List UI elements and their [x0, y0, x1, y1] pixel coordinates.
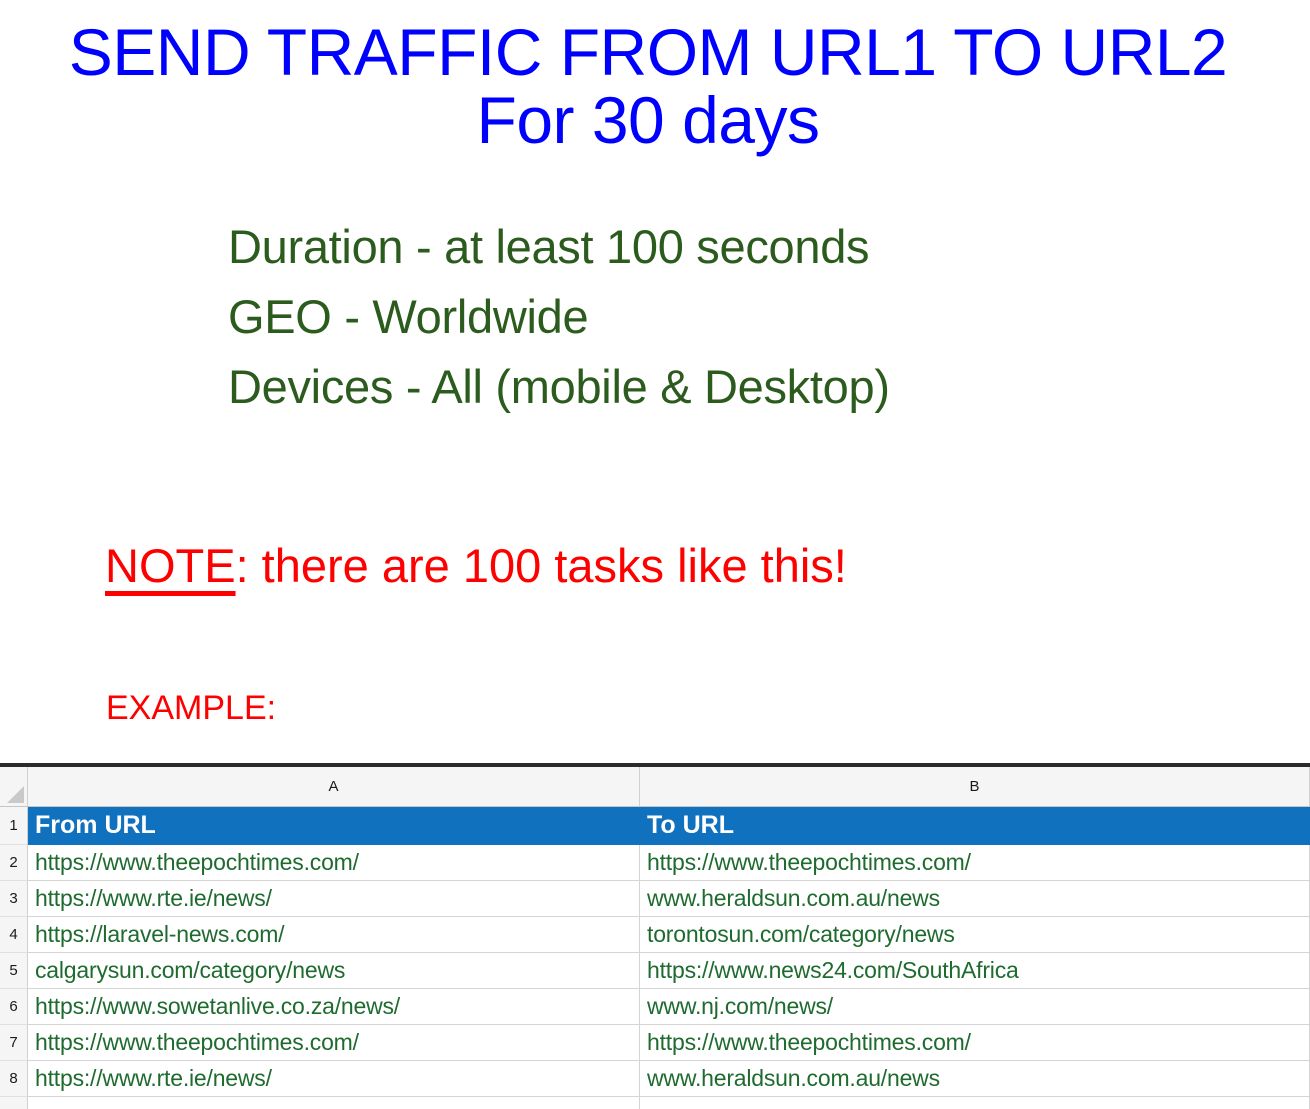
row-header-1[interactable]: 1: [0, 807, 28, 845]
requirement-duration: Duration - at least 100 seconds: [228, 212, 890, 282]
cell-a5[interactable]: calgarysun.com/category/news: [28, 953, 640, 989]
requirements-list: Duration - at least 100 seconds GEO - Wo…: [228, 212, 890, 422]
cell-a6[interactable]: https://www.sowetanlive.co.za/news/: [28, 989, 640, 1025]
note-text: : there are 100 tasks like this!: [236, 539, 847, 592]
spreadsheet: A B 1 From URL To URL 2 https://www.thee…: [0, 763, 1310, 1109]
cell-b4[interactable]: torontosun.com/category/news: [640, 917, 1310, 953]
cell-a7[interactable]: https://www.theepochtimes.com/: [28, 1025, 640, 1061]
row-header-4[interactable]: 4: [0, 917, 28, 953]
title-line-secondary: For 30 days: [0, 86, 1296, 154]
title-line-primary: SEND TRAFFIC FROM URL1 TO URL2: [0, 18, 1296, 86]
cell-b8[interactable]: www.heraldsun.com.au/news: [640, 1061, 1310, 1097]
cell-b7[interactable]: https://www.theepochtimes.com/: [640, 1025, 1310, 1061]
select-all-corner[interactable]: [0, 767, 28, 807]
cell-a8[interactable]: https://www.rte.ie/news/: [28, 1061, 640, 1097]
row-header-6[interactable]: 6: [0, 989, 28, 1025]
slide-banner: SEND TRAFFIC FROM URL1 TO URL2 For 30 da…: [0, 0, 1310, 763]
note-emphasis: NOTE: [105, 539, 236, 592]
requirement-devices: Devices - All (mobile & Desktop): [228, 352, 890, 422]
cell-b3[interactable]: www.heraldsun.com.au/news: [640, 881, 1310, 917]
cell-b9[interactable]: [640, 1097, 1310, 1109]
requirement-geo: GEO - Worldwide: [228, 282, 890, 352]
cell-a9[interactable]: [28, 1097, 640, 1109]
cell-b6[interactable]: www.nj.com/news/: [640, 989, 1310, 1025]
spreadsheet-grid: A B 1 From URL To URL 2 https://www.thee…: [0, 767, 1310, 1109]
cell-b5[interactable]: https://www.news24.com/SouthAfrica: [640, 953, 1310, 989]
page-title: SEND TRAFFIC FROM URL1 TO URL2 For 30 da…: [0, 18, 1296, 154]
select-all-triangle-icon: [7, 786, 24, 803]
note-callout: NOTE: there are 100 tasks like this!: [105, 538, 847, 594]
row-header-7[interactable]: 7: [0, 1025, 28, 1061]
cell-a4[interactable]: https://laravel-news.com/: [28, 917, 640, 953]
cell-b2[interactable]: https://www.theepochtimes.com/: [640, 845, 1310, 881]
row-header-9[interactable]: 9: [0, 1097, 28, 1109]
column-header-a[interactable]: A: [28, 767, 640, 807]
cell-a2[interactable]: https://www.theepochtimes.com/: [28, 845, 640, 881]
cell-b1[interactable]: To URL: [640, 807, 1310, 845]
cell-a3[interactable]: https://www.rte.ie/news/: [28, 881, 640, 917]
column-header-b[interactable]: B: [640, 767, 1310, 807]
row-header-3[interactable]: 3: [0, 881, 28, 917]
example-label: EXAMPLE:: [106, 688, 276, 728]
row-header-2[interactable]: 2: [0, 845, 28, 881]
cell-a1[interactable]: From URL: [28, 807, 640, 845]
row-header-8[interactable]: 8: [0, 1061, 28, 1097]
row-header-5[interactable]: 5: [0, 953, 28, 989]
